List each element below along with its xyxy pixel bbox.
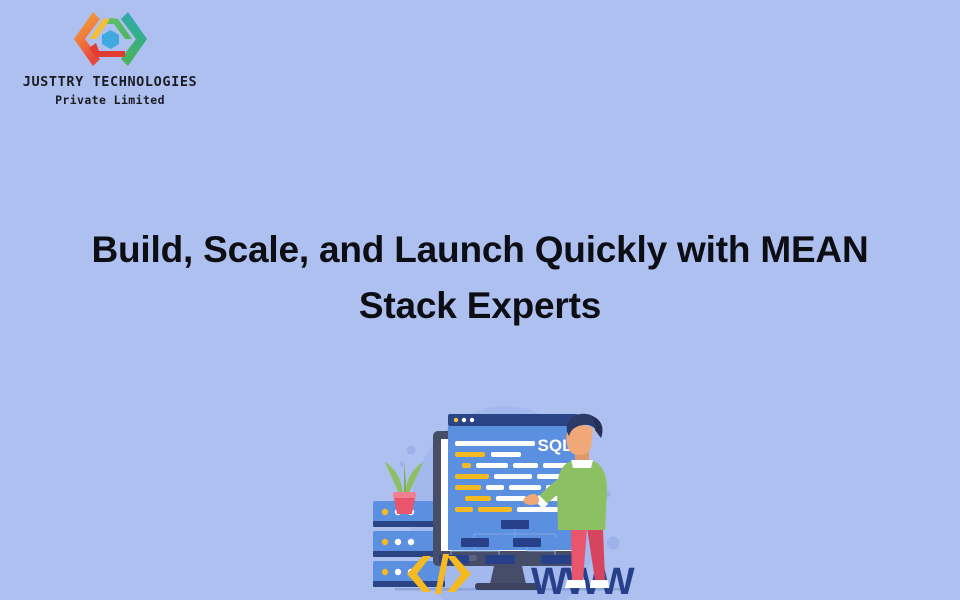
headline-line-1: Build, Scale, and Launch Quickly with ME…	[92, 229, 869, 270]
window-dot-white-2	[470, 418, 474, 422]
brand-logo[interactable]: JUSTTRY TECHNOLOGIES Private Limited	[10, 8, 210, 107]
developer-at-monitor-illustration: SQL	[355, 398, 665, 600]
brand-subtitle: Private Limited	[10, 93, 210, 107]
page-headline: Build, Scale, and Launch Quickly with ME…	[50, 222, 910, 333]
shoe-right-icon	[590, 580, 609, 588]
headline-line-2: Stack Experts	[359, 285, 601, 326]
brand-name: JUSTTRY TECHNOLOGIES	[10, 74, 210, 90]
illustration-svg: SQL	[355, 398, 665, 600]
browser-titlebar	[448, 414, 578, 426]
hexagon-chevron-logo-icon	[63, 8, 158, 70]
shoe-left-icon	[565, 580, 586, 588]
window-dot-yellow	[454, 418, 458, 422]
window-dot-white-1	[462, 418, 466, 422]
